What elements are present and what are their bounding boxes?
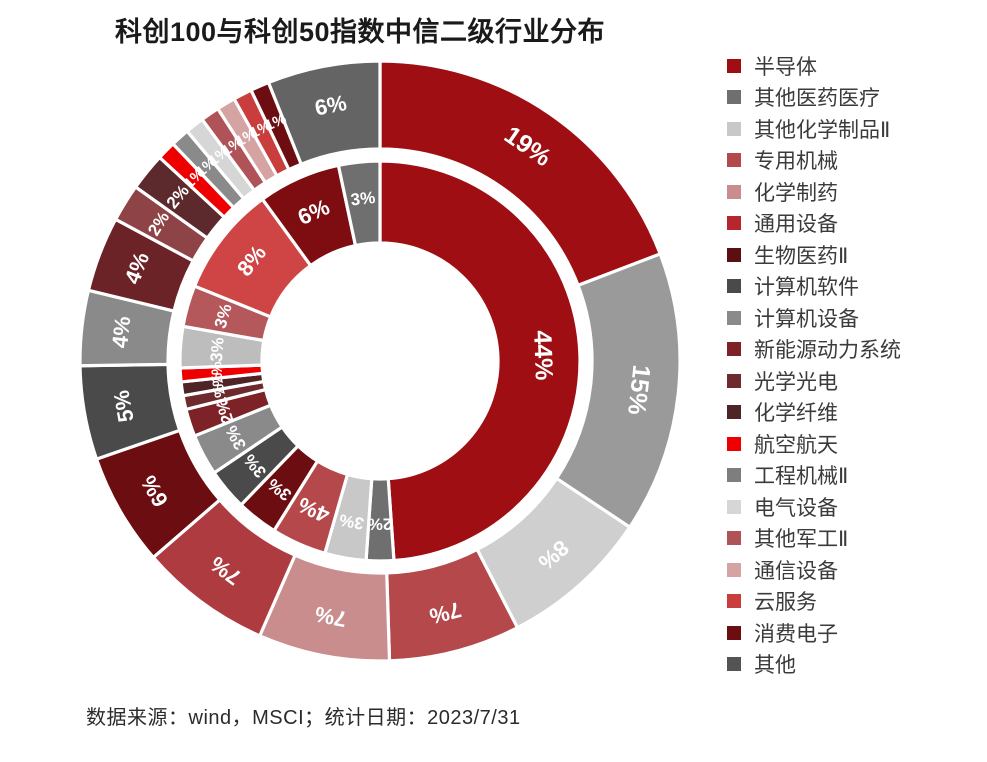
legend-item[interactable]: 其他军工Ⅱ [727,523,977,555]
legend-item-label: 航空航天 [754,429,838,459]
outer-ring-group [80,61,680,661]
legend-item[interactable]: 生物医药Ⅱ [727,239,977,271]
donut-svg: 19%15%8%7%7%7%6%5%4%4%2%2%1%1%1%1%1%1%1%… [60,48,700,678]
legend-swatch-icon [727,311,741,325]
legend-item[interactable]: 航空航天 [727,428,977,460]
legend-item[interactable]: 通信设备 [727,554,977,586]
legend-swatch-icon [727,216,741,230]
legend-item[interactable]: 专用机械 [727,145,977,177]
legend-swatch-icon [727,374,741,388]
legend-item-label: 其他化学制品Ⅱ [754,114,890,144]
legend-swatch-icon [727,468,741,482]
legend-item-label: 电气设备 [754,492,838,522]
legend-item-label: 通信设备 [754,555,838,585]
legend-item-label: 半导体 [754,51,817,81]
legend-item-label: 计算机设备 [754,303,859,333]
legend-item-label: 消费电子 [754,618,838,648]
legend-item-label: 其他 [754,649,796,679]
legend-item[interactable]: 化学纤维 [727,397,977,429]
inner-ring-group [180,161,580,561]
slice-label: 3% [207,337,228,363]
legend-swatch-icon [727,405,741,419]
legend: 半导体其他医药医疗其他化学制品Ⅱ专用机械化学制药通用设备生物医药Ⅱ计算机软件计算… [727,50,977,680]
legend-item[interactable]: 计算机软件 [727,271,977,303]
legend-item-label: 云服务 [754,586,817,616]
legend-item[interactable]: 其他 [727,649,977,681]
slice-label: 15% [622,363,655,416]
legend-item-label: 通用设备 [754,208,838,238]
legend-item-label: 其他军工Ⅱ [754,523,848,553]
legend-item[interactable]: 电气设备 [727,491,977,523]
donut-chart: 19%15%8%7%7%7%6%5%4%4%2%2%1%1%1%1%1%1%1%… [60,48,700,678]
slice-label: 4% [107,315,135,349]
legend-item[interactable]: 消费电子 [727,617,977,649]
legend-item[interactable]: 计算机设备 [727,302,977,334]
legend-swatch-icon [727,248,741,262]
source-note: 数据来源：wind，MSCI；统计日期：2023/7/31 [86,701,521,730]
legend-item-label: 专用机械 [754,145,838,175]
legend-swatch-icon [727,657,741,671]
slice-label: 2% [368,515,393,534]
legend-item-label: 化学纤维 [754,397,838,427]
slice-label: 1% [208,361,226,384]
legend-item[interactable]: 通用设备 [727,208,977,240]
legend-item-label: 工程机械Ⅱ [754,460,848,490]
page-title: 科创100与科创50指数中信二级行业分布 [0,10,720,49]
legend-swatch-icon [727,531,741,545]
slice-label: 3% [350,188,376,209]
legend-item[interactable]: 工程机械Ⅱ [727,460,977,492]
slice-label: 44% [528,330,558,381]
legend-item[interactable]: 化学制药 [727,176,977,208]
legend-swatch-icon [727,185,741,199]
legend-item[interactable]: 光学光电 [727,365,977,397]
legend-swatch-icon [727,59,741,73]
legend-swatch-icon [727,563,741,577]
legend-swatch-icon [727,500,741,514]
legend-item-label: 新能源动力系统 [754,334,901,364]
legend-item[interactable]: 其他化学制品Ⅱ [727,113,977,145]
legend-item-label: 其他医药医疗 [754,82,880,112]
legend-swatch-icon [727,153,741,167]
legend-item-label: 计算机软件 [754,271,859,301]
legend-item[interactable]: 云服务 [727,586,977,618]
legend-swatch-icon [727,626,741,640]
legend-swatch-icon [727,122,741,136]
legend-item[interactable]: 新能源动力系统 [727,334,977,366]
legend-swatch-icon [727,594,741,608]
legend-swatch-icon [727,279,741,293]
legend-item[interactable]: 其他医药医疗 [727,82,977,114]
legend-item-label: 生物医药Ⅱ [754,240,848,270]
legend-swatch-icon [727,342,741,356]
legend-item-label: 化学制药 [754,177,838,207]
legend-swatch-icon [727,437,741,451]
legend-swatch-icon [727,90,741,104]
legend-item[interactable]: 半导体 [727,50,977,82]
legend-item-label: 光学光电 [754,366,838,396]
